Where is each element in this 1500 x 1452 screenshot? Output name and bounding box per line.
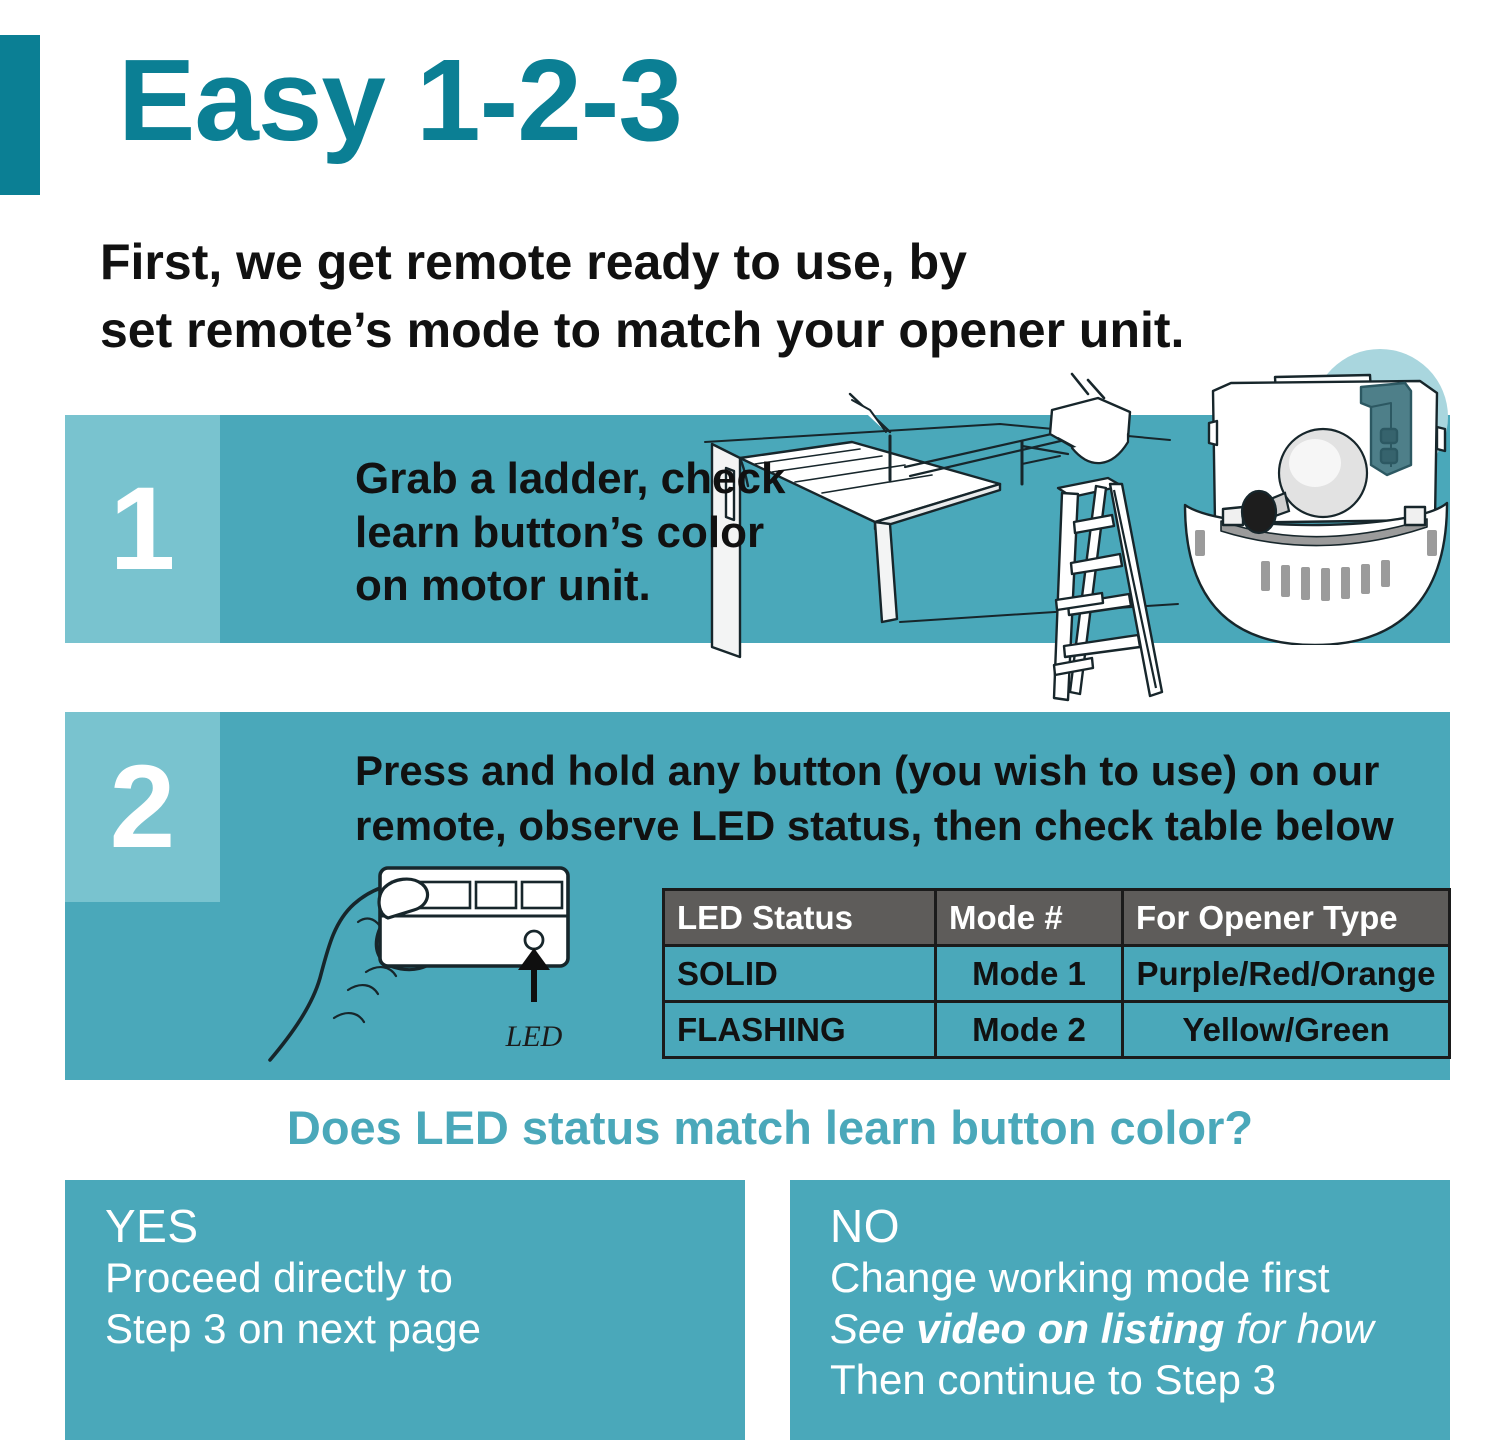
subtitle-line-2: set remote’s mode to match your opener u… bbox=[100, 296, 1430, 364]
cell-opener-type-1: Purple/Red/Orange bbox=[1123, 946, 1450, 1002]
led-status-table: LED Status Mode # For Opener Type SOLID … bbox=[662, 888, 1451, 1059]
yes-option-box: YES Proceed directly to Step 3 on next p… bbox=[65, 1180, 745, 1440]
table-header-led-status: LED Status bbox=[664, 890, 936, 946]
table-header-row: LED Status Mode # For Opener Type bbox=[664, 890, 1450, 946]
step-1-number: 1 bbox=[65, 415, 220, 643]
step-1-line-3: on motor unit. bbox=[355, 559, 785, 613]
yes-line-2: Step 3 on next page bbox=[105, 1303, 745, 1354]
table-row: FLASHING Mode 2 Yellow/Green bbox=[664, 1002, 1450, 1058]
no-line-2: See video on listing for how bbox=[830, 1303, 1450, 1354]
step-1-text: Grab a ladder, check learn button’s colo… bbox=[355, 452, 785, 613]
decision-question: Does LED status match learn button color… bbox=[170, 1100, 1370, 1155]
no-line-2-emphasis: video on listing bbox=[916, 1305, 1224, 1352]
no-line-2-suffix: for how bbox=[1224, 1305, 1373, 1352]
step-1-panel: 1 Grab a ladder, check learn button’s co… bbox=[65, 415, 1450, 643]
cell-opener-type-2: Yellow/Green bbox=[1123, 1002, 1450, 1058]
accent-bar bbox=[0, 35, 40, 195]
no-line-3: Then continue to Step 3 bbox=[830, 1354, 1450, 1405]
no-heading: NO bbox=[830, 1202, 1450, 1252]
yes-line-1: Proceed directly to bbox=[105, 1252, 745, 1303]
infographic-page: Easy 1-2-3 First, we get remote ready to… bbox=[0, 0, 1500, 1452]
cell-mode-1: Mode 1 bbox=[936, 946, 1123, 1002]
table-header-mode: Mode # bbox=[936, 890, 1123, 946]
subtitle-line-1: First, we get remote ready to use, by bbox=[100, 228, 1430, 296]
page-title: Easy 1-2-3 bbox=[118, 42, 682, 158]
step-1-line-2: learn button’s color bbox=[355, 506, 785, 560]
cell-led-status-solid: SOLID bbox=[664, 946, 936, 1002]
step-2-line-1: Press and hold any button (you wish to u… bbox=[355, 744, 1394, 799]
step-2-number: 2 bbox=[65, 712, 220, 902]
no-line-1: Change working mode first bbox=[830, 1252, 1450, 1303]
step-2-text: Press and hold any button (you wish to u… bbox=[355, 744, 1394, 853]
cell-led-status-flashing: FLASHING bbox=[664, 1002, 936, 1058]
no-option-box: NO Change working mode first See video o… bbox=[790, 1180, 1450, 1440]
table-header-opener-type: For Opener Type bbox=[1123, 890, 1450, 946]
step-1-line-1: Grab a ladder, check bbox=[355, 452, 785, 506]
step-2-line-2: remote, observe LED status, then check t… bbox=[355, 799, 1394, 854]
table-row: SOLID Mode 1 Purple/Red/Orange bbox=[664, 946, 1450, 1002]
no-line-2-prefix: See bbox=[830, 1305, 916, 1352]
page-subtitle: First, we get remote ready to use, by se… bbox=[100, 228, 1430, 364]
yes-heading: YES bbox=[105, 1202, 745, 1252]
cell-mode-2: Mode 2 bbox=[936, 1002, 1123, 1058]
